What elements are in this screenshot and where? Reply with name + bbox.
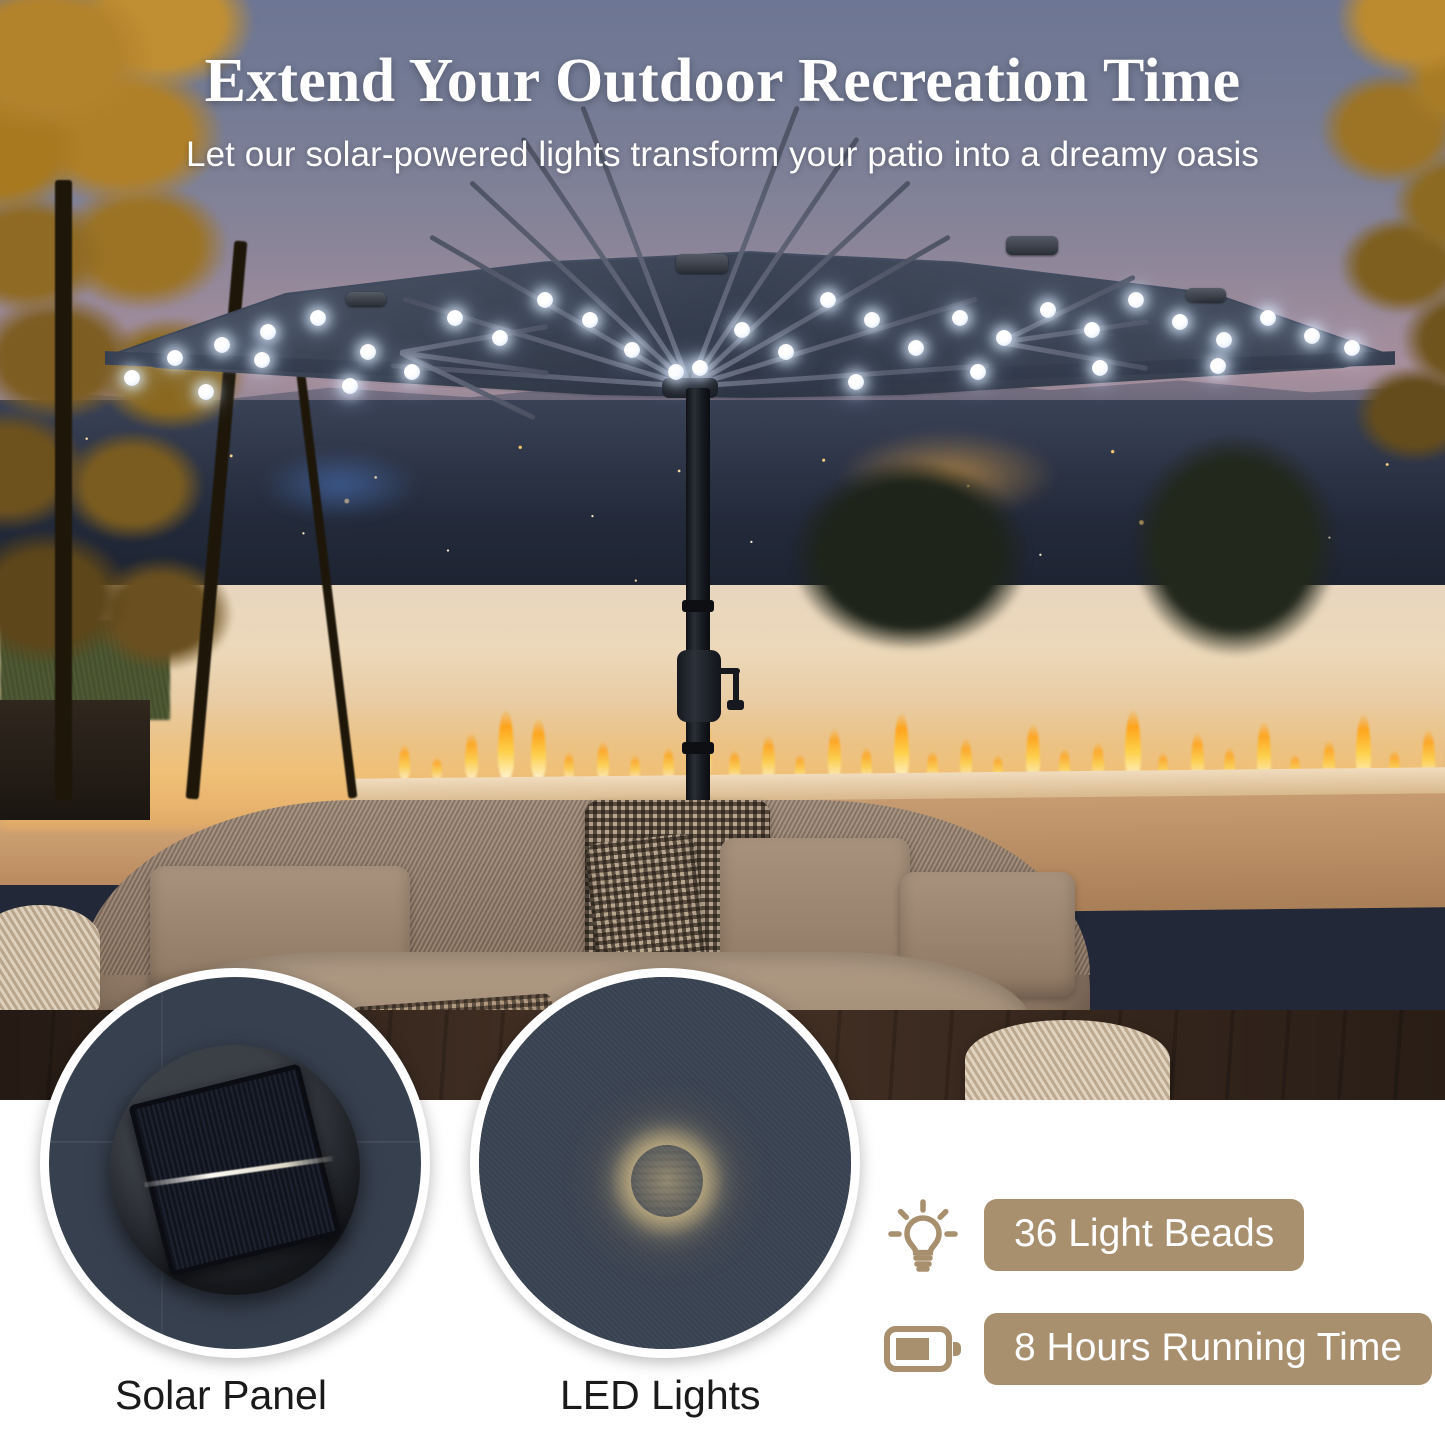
led-light-inset — [470, 968, 860, 1358]
crank-handle — [727, 700, 744, 710]
inset-caption-solar-panel: Solar Panel — [115, 1372, 327, 1419]
crank-housing — [677, 650, 721, 722]
inset-caption-led-lights: LED Lights — [560, 1372, 761, 1419]
solar-panel-puck — [1186, 288, 1226, 302]
pole-joint — [682, 600, 714, 612]
solar-panel-puck — [676, 254, 728, 273]
solar-panel-puck — [346, 292, 386, 306]
solar-panel-inset — [40, 968, 430, 1358]
solar-cell-highlight — [144, 1156, 333, 1187]
product-marketing-image: Extend Your Outdoor Recreation Time Let … — [0, 0, 1445, 1445]
page-subtitle: Let our solar-powered lights transform y… — [0, 135, 1445, 175]
solar-panel-housing — [110, 1045, 360, 1295]
feature-running-time: 8 Hours Running Time — [880, 1310, 1432, 1388]
feature-badge-label: 36 Light Beads — [984, 1199, 1304, 1271]
pole-joint — [682, 742, 714, 754]
led-bulb — [631, 1145, 703, 1217]
light-bulb-icon — [880, 1196, 966, 1274]
feature-light-beads: 36 Light Beads — [880, 1196, 1304, 1274]
battery-icon — [880, 1310, 966, 1388]
feature-badge-label: 8 Hours Running Time — [984, 1313, 1432, 1385]
page-title: Extend Your Outdoor Recreation Time — [0, 46, 1445, 117]
solar-panel-puck — [1006, 236, 1058, 255]
solar-cell — [128, 1064, 341, 1277]
woven-ottoman — [0, 905, 100, 1015]
woven-ottoman — [965, 1020, 1170, 1100]
